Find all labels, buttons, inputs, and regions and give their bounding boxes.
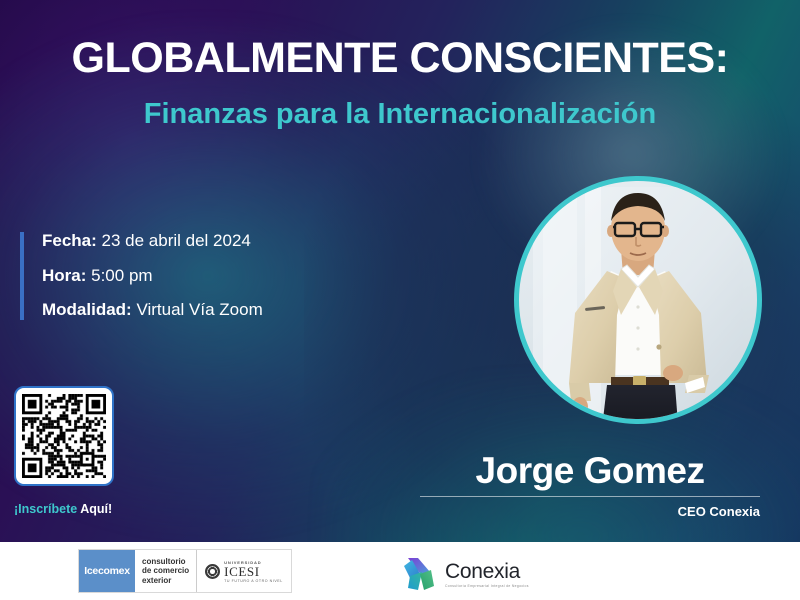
icesi-logo: UNIVERSIDAD ICESI TU FUTURO A OTRO NIVEL	[197, 550, 291, 592]
qr-code[interactable]	[14, 386, 114, 486]
speaker-name: Jorge Gomez	[420, 452, 760, 489]
detail-label-hora: Hora:	[42, 266, 86, 285]
conexia-wordmark: Conexia Consultoría Empresarial Integral…	[445, 561, 529, 588]
detail-row-modalidad: Modalidad: Virtual Vía Zoom	[42, 301, 263, 320]
event-details: Fecha: 23 de abril del 2024 Hora: 5:00 p…	[20, 232, 263, 320]
icecomex-wordmark-text: Icecomex	[84, 565, 129, 577]
detail-value-fecha: 23 de abril del 2024	[97, 231, 251, 250]
qr-code-image	[22, 394, 106, 478]
detail-label-modalidad: Modalidad:	[42, 300, 132, 319]
icecomex-icesi-logo: Icecomex consultorio de comercio exterio…	[78, 549, 292, 593]
speaker-photo	[514, 176, 762, 424]
icecomex-wordmark: Icecomex	[79, 550, 135, 592]
conexia-x-icon	[398, 554, 442, 594]
footer-bar: Icecomex consultorio de comercio exterio…	[0, 542, 800, 600]
speaker-block: Jorge Gomez CEO Conexia	[420, 452, 760, 519]
icecomex-tagline-line2: de comercio	[142, 566, 189, 575]
icesi-tagline: TU FUTURO A OTRO NIVEL	[224, 579, 283, 583]
icecomex-tagline-line1: consultorio	[142, 557, 189, 566]
detail-row-hora: Hora: 5:00 pm	[42, 267, 263, 286]
conexia-name: Conexia	[445, 561, 529, 582]
icesi-seal-icon	[205, 564, 220, 579]
icesi-name: ICESI	[224, 565, 283, 578]
detail-value-modalidad: Virtual Vía Zoom	[132, 300, 263, 319]
speaker-role: CEO Conexia	[420, 504, 760, 519]
qr-caption[interactable]: ¡Inscríbete Aquí!	[14, 502, 112, 516]
speaker-divider	[420, 496, 760, 497]
headline-block: GLOBALMENTE CONSCIENTES: Finanzas para l…	[0, 36, 800, 131]
event-flyer: GLOBALMENTE CONSCIENTES: Finanzas para l…	[0, 0, 800, 600]
detail-value-hora: 5:00 pm	[86, 266, 152, 285]
icecomex-tagline-line3: exterior	[142, 576, 189, 585]
headline-subtitle: Finanzas para la Internacionalización	[0, 99, 800, 131]
qr-caption-plain: Aquí!	[77, 502, 112, 516]
speaker-portrait-illustration	[533, 187, 743, 424]
conexia-tagline: Consultoría Empresarial Integral de Nego…	[445, 584, 529, 588]
headline-title: GLOBALMENTE CONSCIENTES:	[0, 36, 800, 81]
conexia-logo: Conexia Consultoría Empresarial Integral…	[398, 554, 529, 594]
icesi-wordmark: UNIVERSIDAD ICESI TU FUTURO A OTRO NIVEL	[224, 560, 283, 583]
detail-label-fecha: Fecha:	[42, 231, 97, 250]
icecomex-tagline: consultorio de comercio exterior	[135, 550, 197, 592]
detail-row-fecha: Fecha: 23 de abril del 2024	[42, 232, 263, 251]
qr-caption-accent: ¡Inscríbete	[14, 502, 77, 516]
